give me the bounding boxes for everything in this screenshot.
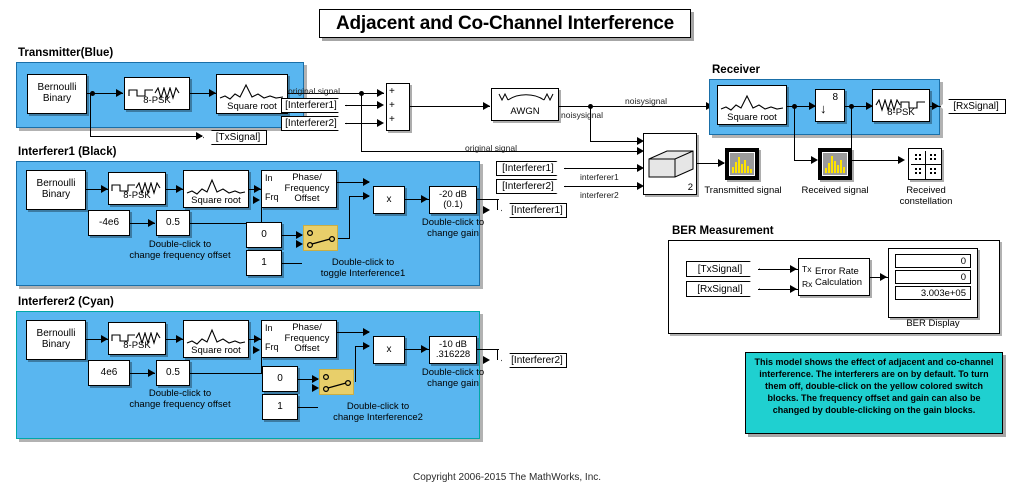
i1-port-in: In	[265, 174, 273, 184]
arrow	[377, 101, 384, 109]
ber-display-row-1: 0	[895, 254, 971, 268]
i1-product-block[interactable]: x	[373, 186, 405, 214]
wire-label-interferer1: interferer1	[580, 172, 619, 182]
rx-filter-label: Square root	[718, 113, 786, 123]
i2-phase-frequency-offset-block[interactable]: In Frq Phase/ Frequency Offset	[261, 320, 337, 358]
wire	[497, 349, 498, 360]
arrow	[176, 185, 183, 193]
copyright-text: Copyright 2006-2015 The MathWorks, Inc.	[0, 472, 1014, 483]
i2-frequency-scale-block[interactable]: 0.5	[156, 360, 190, 386]
ber-port-tx: Tx	[802, 265, 811, 274]
goto-tag-txsignal[interactable]: [TxSignal]	[203, 130, 267, 145]
wire	[338, 238, 350, 239]
arrow	[421, 345, 428, 353]
wire	[559, 106, 712, 107]
i1-8psk-label: 8-PSK	[109, 191, 165, 201]
arrow	[101, 335, 108, 343]
received-constellation-label: Received constellation	[886, 186, 966, 208]
i1-offset-label: Phase/ Frequency Offset	[280, 173, 334, 205]
arrow	[363, 342, 370, 350]
transmitted-signal-label: Transmitted signal	[700, 186, 786, 197]
i1-toggle-switch-block[interactable]	[303, 225, 338, 251]
region-label-receiver: Receiver	[712, 64, 760, 76]
down-arrow-icon: ↓	[820, 102, 827, 116]
i2-toggle-switch-block[interactable]	[319, 369, 354, 395]
wire	[477, 349, 499, 350]
awgn-icon	[498, 92, 554, 104]
arrow	[421, 195, 428, 203]
arrow	[253, 196, 260, 204]
switch-icon	[304, 226, 339, 252]
arrow	[363, 178, 370, 186]
tx-square-root-filter-block[interactable]: Square root	[216, 74, 288, 114]
sum-block[interactable]: + + +	[386, 83, 410, 131]
i2-8psk-label: 8-PSK	[109, 341, 165, 351]
region-label-ber: BER Measurement	[672, 225, 774, 237]
i1-gain-block[interactable]: -20 dB (0.1)	[429, 186, 477, 214]
rx-8psk-label: 8-PSK	[873, 108, 929, 118]
from-tag-txsignal-ber[interactable]: [TxSignal]	[686, 261, 760, 277]
wire	[90, 93, 91, 137]
wire	[349, 197, 350, 238]
wire-label-original-signal-bottom: original signal	[465, 143, 517, 153]
i2-constant-off-block[interactable]: 0	[262, 366, 298, 392]
wire	[361, 93, 362, 152]
i1-bernoulli-binary-block[interactable]: Bernoulli Binary	[26, 170, 86, 210]
arrow	[790, 265, 797, 273]
i2-offset-label: Phase/ Frequency Offset	[280, 323, 334, 355]
i2-port-in: In	[265, 324, 273, 334]
error-rate-calculation-block[interactable]: Tx Rx Error Rate Calculation	[798, 258, 870, 296]
arrow	[254, 185, 261, 193]
sum-sign-3: +	[389, 114, 395, 125]
rx-8psk-demodulator-block[interactable]: 8-PSK	[872, 89, 930, 122]
tx-8psk-label: 8-PSK	[125, 96, 189, 106]
i1-constant-on-block[interactable]: 1	[246, 250, 282, 276]
transmitted-signal-scope[interactable]	[725, 148, 759, 180]
from-tag-interferer1-concat[interactable]: [Interferer1]	[496, 161, 566, 176]
ber-display-row-2: 0	[895, 270, 971, 284]
goto-tag-interferer2[interactable]: [Interferer2]	[501, 353, 567, 368]
pulse-shape-icon	[720, 92, 784, 114]
wire-label-noisysignal-left: noisysignal	[561, 110, 603, 120]
from-tag-interferer2-sum[interactable]: [Interferer2]	[281, 116, 347, 131]
i1-8psk-modulator-block[interactable]: 8-PSK	[108, 172, 166, 205]
axis-v	[925, 151, 926, 179]
goto-tag-interferer1[interactable]: [Interferer1]	[501, 203, 567, 218]
arrow	[148, 369, 155, 377]
awgn-channel-block[interactable]: AWGN	[491, 88, 559, 121]
arrow	[101, 185, 108, 193]
pulse-shape-icon	[186, 177, 246, 197]
i1-port-frq: Frq	[265, 193, 279, 203]
arrow	[253, 346, 260, 354]
ber-display-label: BER Display	[888, 319, 978, 330]
arrow	[790, 285, 797, 293]
arrow	[811, 156, 818, 164]
arrow	[148, 219, 155, 227]
arrow	[209, 89, 216, 97]
arrow	[312, 375, 319, 383]
i1-frequency-note: Double-click to change frequency offset	[100, 240, 260, 262]
from-tag-rxsignal-ber[interactable]: [RxSignal]	[686, 281, 760, 297]
i2-filter-label: Square root	[184, 346, 248, 356]
simulink-canvas: Adjacent and Co-Channel Interference Tra…	[0, 0, 1014, 497]
arrow	[254, 335, 261, 343]
downsample-factor: 8	[832, 93, 838, 104]
i2-square-root-filter-block[interactable]: Square root	[183, 320, 249, 358]
from-tag-interferer2-concat[interactable]: [Interferer2]	[496, 179, 566, 194]
concat-port-count: 2	[688, 182, 693, 193]
i1-switch-note: Double-click to toggle Interference1	[285, 258, 441, 280]
arrow	[483, 356, 490, 364]
scope-screen	[729, 152, 755, 176]
matrix-concatenate-block[interactable]: 2	[643, 133, 697, 195]
i1-phase-frequency-offset-block[interactable]: In Frq Phase/ Frequency Offset	[261, 170, 337, 208]
arrow	[880, 273, 887, 281]
region-label-interferer1: Interferer1 (Black)	[18, 146, 116, 158]
received-signal-scope[interactable]	[818, 148, 852, 180]
error-rate-label: Error Rate Calculation	[815, 266, 867, 288]
wire	[355, 346, 356, 382]
from-tag-interferer1-sum[interactable]: [Interferer1]	[281, 98, 347, 113]
sum-sign-1: +	[389, 86, 395, 97]
wire	[590, 106, 591, 142]
wire-label-original-signal-top: original signal	[288, 86, 340, 96]
ber-display-row-3: 3.003e+05	[895, 286, 971, 300]
pulse-shape-icon	[186, 327, 246, 347]
arrow	[932, 102, 939, 110]
arrow	[296, 240, 303, 248]
arrow	[377, 119, 384, 127]
concat-3d-icon	[645, 139, 697, 185]
region-label-transmitter: Transmitter(Blue)	[18, 47, 113, 59]
i2-switch-note: Double-click to change Interference2	[300, 402, 456, 424]
wire	[477, 199, 499, 200]
i1-square-root-filter-block[interactable]: Square root	[183, 170, 249, 208]
received-constellation-scope[interactable]	[908, 148, 942, 180]
i1-constant-off-block[interactable]: 0	[246, 222, 282, 248]
wire	[564, 186, 640, 187]
wire	[90, 136, 202, 137]
arrow	[312, 384, 319, 392]
arrow	[898, 156, 905, 164]
ber-port-rx: Rx	[802, 280, 812, 289]
axis-h	[911, 164, 941, 165]
arrow	[196, 132, 203, 140]
i2-port-frq: Frq	[265, 343, 279, 353]
page-title: Adjacent and Co-Channel Interference	[319, 9, 691, 38]
wire	[261, 200, 262, 224]
arrow	[363, 192, 370, 200]
tx-filter-label: Square root	[217, 102, 287, 112]
scope-screen	[822, 152, 848, 176]
i1-frequency-scale-block[interactable]: 0.5	[156, 210, 190, 236]
wire	[851, 160, 903, 161]
i2-gain-block[interactable]: -10 dB .316228	[429, 336, 477, 364]
i2-8psk-modulator-block[interactable]: 8-PSK	[108, 322, 166, 355]
wire	[590, 141, 640, 142]
wire-label-interferer2: interferer2	[580, 190, 619, 200]
region-label-interferer2: Interferer2 (Cyan)	[18, 296, 114, 308]
arrow	[363, 328, 370, 336]
wire-label-noisysignal-top: noisysignal	[625, 96, 667, 106]
pulse-shape-icon	[219, 81, 285, 103]
i2-constant-on-block[interactable]: 1	[262, 394, 298, 420]
wire	[794, 106, 795, 161]
wire	[497, 199, 498, 210]
model-description-annotation: This model shows the effect of adjacent …	[745, 352, 1003, 434]
i1-frequency-offset-gain-block[interactable]: -4e6	[88, 210, 130, 236]
awgn-label: AWGN	[492, 107, 558, 117]
rx-square-root-filter-block[interactable]: Square root	[717, 85, 787, 125]
ber-display-block[interactable]: 0 0 3.003e+05	[888, 248, 978, 318]
arrow	[483, 102, 490, 110]
i2-bernoulli-binary-block[interactable]: Bernoulli Binary	[26, 320, 86, 360]
i2-frequency-note: Double-click to change frequency offset	[100, 389, 260, 411]
i1-gain-note: Double-click to change gain	[405, 218, 501, 240]
arrow	[296, 231, 303, 239]
arrow	[176, 335, 183, 343]
goto-tag-rxsignal[interactable]: [RxSignal]	[940, 99, 1006, 114]
arrow	[116, 89, 123, 97]
i2-product-block[interactable]: x	[373, 336, 405, 364]
arrow	[483, 206, 490, 214]
i2-gain-note: Double-click to change gain	[405, 368, 501, 390]
tx-bernoulli-binary-block[interactable]: Bernoulli Binary	[27, 74, 87, 114]
tx-8psk-modulator-block[interactable]: 8-PSK	[124, 77, 190, 110]
wire	[410, 106, 490, 107]
arrow	[718, 159, 725, 167]
wire	[190, 373, 263, 374]
wire	[564, 168, 640, 169]
downsample-block[interactable]: ↓ 8	[815, 89, 845, 122]
received-signal-label: Received signal	[792, 186, 878, 197]
switch-icon	[320, 370, 355, 396]
sum-sign-2: +	[389, 100, 395, 111]
i2-frequency-offset-gain-block[interactable]: 4e6	[88, 360, 130, 386]
i1-filter-label: Square root	[184, 196, 248, 206]
arrow	[377, 89, 384, 97]
